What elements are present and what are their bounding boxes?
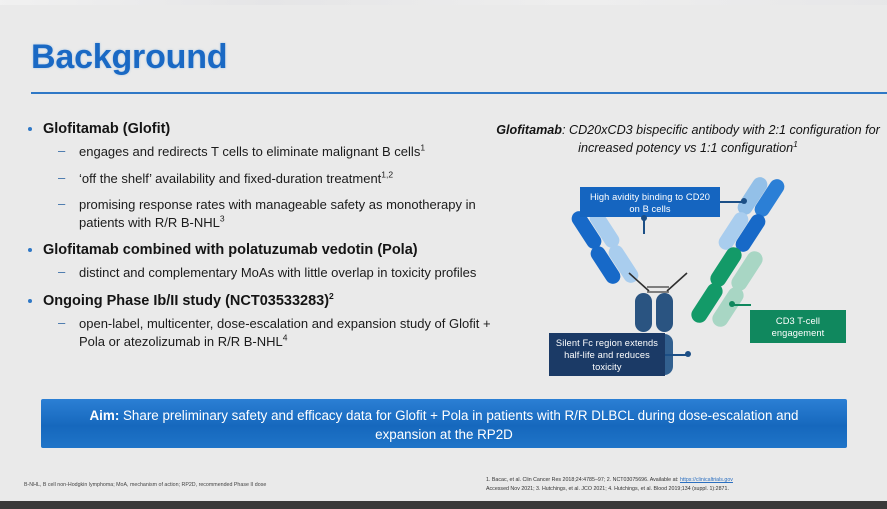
diagram-caption: Glofitamab: CD20xCD3 bispecific antibody… bbox=[492, 122, 884, 158]
ref-marker: 1 bbox=[793, 139, 798, 149]
sub-bullet-text: promising response rates with manageable… bbox=[79, 197, 476, 230]
aim-label: Aim: bbox=[90, 408, 120, 423]
sub-bullet-text: engages and redirects T cells to elimina… bbox=[79, 144, 420, 159]
callout-cd20-dot-down bbox=[641, 215, 647, 221]
diagram-caption-rest: : CD20xCD3 bispecific antibody with 2:1 … bbox=[562, 123, 880, 155]
bullet-heading-text: Glofitamab combined with polatuzumab ved… bbox=[43, 242, 418, 258]
title-underline bbox=[31, 92, 887, 94]
callout-silent-fc: Silent Fc region extends half-life and r… bbox=[549, 333, 665, 376]
fc-chain-right-upper bbox=[656, 293, 673, 332]
callout-cd3-engagement-text: CD3 T-cell engagement bbox=[772, 316, 825, 338]
bullet-heading: Glofitamab combined with polatuzumab ved… bbox=[24, 241, 504, 259]
sub-bullet-text: ‘off the shelf’ availability and fixed-d… bbox=[79, 171, 381, 186]
callout-fc-dot bbox=[685, 351, 691, 357]
sub-bullet: distinct and complementary MoAs with lit… bbox=[24, 264, 504, 282]
sub-bullet: engages and redirects T cells to elimina… bbox=[24, 143, 504, 161]
bullet-group-1: Glofitamab (Glofit) engages and redirect… bbox=[24, 120, 504, 231]
ref-marker: 1,2 bbox=[381, 169, 393, 179]
bullet-group-3: Ongoing Phase Ib/II study (NCT03533283)2… bbox=[24, 292, 504, 350]
bullet-list: Glofitamab (Glofit) engages and redirect… bbox=[24, 120, 504, 360]
fc-chain-left-upper bbox=[635, 293, 652, 332]
aim-text: Share preliminary safety and efficacy da… bbox=[119, 408, 798, 442]
bottom-border bbox=[0, 501, 887, 509]
abbreviations-footnote: B-NHL, B cell non-Hodgkin lymphoma; MoA,… bbox=[24, 482, 354, 490]
sub-bullet: promising response rates with manageable… bbox=[24, 196, 504, 231]
sub-bullet-text: distinct and complementary MoAs with lit… bbox=[79, 265, 476, 280]
callout-cd20-dot-right bbox=[741, 198, 747, 204]
callout-fc-lead bbox=[665, 354, 687, 356]
callout-cd3-engagement: CD3 T-cell engagement bbox=[750, 310, 846, 343]
bullet-heading: Glofitamab (Glofit) bbox=[24, 120, 504, 138]
antibody-diagram: High avidity binding to CD20 on B cells … bbox=[505, 175, 887, 400]
sub-bullet: open-label, multicenter, dose-escalation… bbox=[24, 315, 504, 350]
page-title: Background bbox=[31, 38, 227, 77]
callout-cd20-lead-right bbox=[720, 201, 743, 203]
aim-banner: Aim: Share preliminary safety and effica… bbox=[41, 399, 847, 448]
ref-marker: 1 bbox=[420, 143, 425, 153]
callout-silent-fc-text: Silent Fc region extends half-life and r… bbox=[556, 338, 658, 372]
ref-marker: 2 bbox=[329, 291, 334, 301]
bullet-heading-text: Glofitamab (Glofit) bbox=[43, 121, 170, 137]
ref-marker: 4 bbox=[283, 332, 288, 342]
slide-canvas: Background Glofitamab (Glofit) engages a… bbox=[0, 0, 887, 509]
diagram-caption-lead: Glofitamab bbox=[496, 123, 562, 137]
references-footnote: 1. Bacac, et al. Clin Cancer Res 2018;24… bbox=[486, 476, 884, 493]
callout-cd3-lead bbox=[733, 304, 751, 306]
callout-cd3-dot bbox=[729, 301, 735, 307]
bullet-heading-text: Ongoing Phase Ib/II study (NCT03533283) bbox=[43, 293, 329, 309]
reference-line-1: 1. Bacac, et al. Clin Cancer Res 2018;24… bbox=[486, 477, 680, 483]
sub-bullet: ‘off the shelf’ availability and fixed-d… bbox=[24, 170, 504, 188]
clinicaltrials-link[interactable]: https://clinicaltrials.gov bbox=[680, 477, 733, 483]
ref-marker: 3 bbox=[220, 213, 225, 223]
callout-cd20-binding: High avidity binding to CD20 on B cells bbox=[580, 187, 720, 217]
callout-cd20-binding-text: High avidity binding to CD20 on B cells bbox=[590, 192, 710, 214]
bullet-heading: Ongoing Phase Ib/II study (NCT03533283)2 bbox=[24, 292, 504, 310]
reference-line-2: Accessed Nov 2021; 3. Hutchings, et al. … bbox=[486, 486, 729, 492]
bullet-group-2: Glofitamab combined with polatuzumab ved… bbox=[24, 241, 504, 282]
